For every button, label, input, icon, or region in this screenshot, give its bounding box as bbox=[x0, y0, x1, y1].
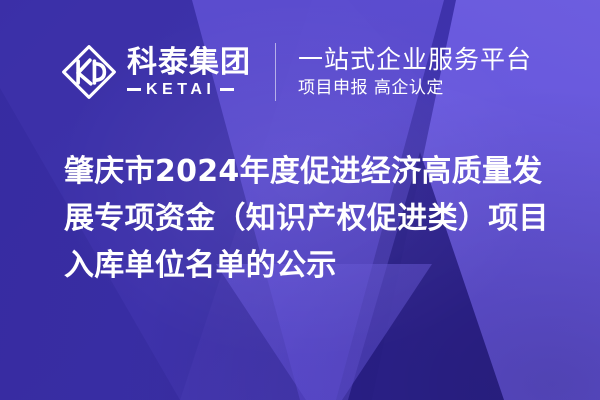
brand-lockup: 科泰集团 KETAI bbox=[60, 43, 251, 101]
brand-name-en: KETAI bbox=[146, 82, 215, 98]
brand-dash-right-icon bbox=[220, 88, 234, 91]
brand-name-en-row: KETAI bbox=[127, 82, 251, 98]
promo-banner: 科泰集团 KETAI 一站式企业服务平台 项目申报 高企认定 肇庆市2024年度… bbox=[0, 0, 600, 400]
brand-wordmark: 科泰集团 KETAI bbox=[127, 47, 251, 98]
tagline-sub: 项目申报 高企认定 bbox=[298, 77, 532, 99]
brand-dash-left-icon bbox=[127, 88, 141, 91]
header-divider bbox=[275, 43, 276, 101]
banner-header: 科泰集团 KETAI 一站式企业服务平台 项目申报 高企认定 bbox=[60, 40, 532, 104]
ketai-diamond-kt-logo-icon bbox=[60, 43, 118, 101]
banner-headline: 肇庆市2024年度促进经济高质量发展专项资金（知识产权促进类）项目入库单位名单的… bbox=[64, 148, 564, 289]
tagline-block: 一站式企业服务平台 项目申报 高企认定 bbox=[298, 45, 532, 99]
brand-name-cn: 科泰集团 bbox=[127, 47, 251, 79]
tagline-main: 一站式企业服务平台 bbox=[298, 45, 532, 75]
